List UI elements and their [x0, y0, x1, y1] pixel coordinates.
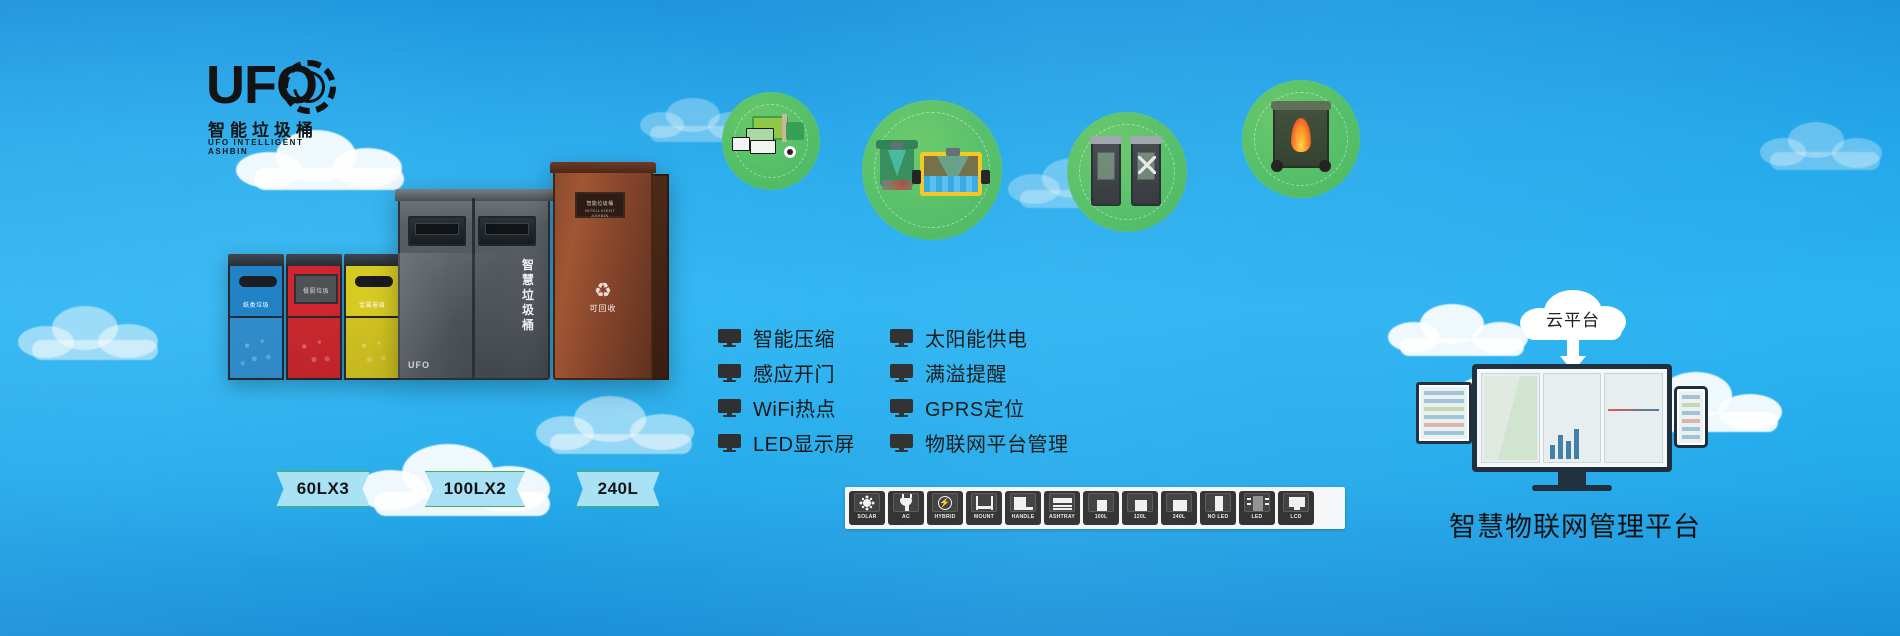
spec-item-lcd: LCD — [1278, 491, 1314, 525]
spec-item-120l: 120L — [1122, 491, 1158, 525]
feature-label: WiFi热点 — [753, 393, 836, 422]
bin-panel-right — [478, 216, 536, 246]
bin-divider — [288, 316, 340, 318]
bin-divider — [346, 316, 398, 318]
monitor-icon — [718, 364, 741, 382]
feature-item: 物联网平台管理 — [890, 425, 1069, 460]
capacity-label-60lx3: 60LX3 — [276, 471, 370, 507]
recycle-icon: ♻ — [553, 278, 653, 303]
spec-item-100l: 100L — [1083, 491, 1119, 525]
spec-item-mount: MOUNT — [966, 491, 1002, 525]
feature-item: 太阳能供电 — [890, 320, 1069, 355]
bin-lid — [228, 254, 284, 266]
no-led-icon — [1205, 493, 1231, 512]
monitor-frame — [1472, 364, 1672, 472]
tablet-screen — [1421, 387, 1467, 439]
spec-item-handle: HANDLE — [1005, 491, 1041, 525]
feature-item: LED显示屏 — [718, 425, 855, 460]
twin-bin-icon — [1091, 140, 1121, 206]
power-plug-icon — [893, 493, 919, 512]
spec-label: LCD — [1290, 514, 1301, 521]
bin-graphic — [350, 328, 394, 372]
bin-compartment-label: 餐厨垃圾 — [296, 286, 336, 295]
feature-circle-fill-level-sensing — [862, 100, 1002, 240]
feature-label: 物联网平台管理 — [925, 428, 1069, 457]
spec-label: HYBRID — [934, 514, 955, 521]
feature-circle-fire-detection — [1242, 80, 1360, 198]
bin-compartment-label: 纸类垃圾 — [230, 300, 282, 309]
product-two-compartment-bin: 智慧垃圾桶 UFO — [398, 198, 550, 380]
bin-lid — [550, 162, 656, 173]
platform-caption: 智慧物联网管理平台 — [1360, 505, 1790, 544]
spec-item-ac: AC — [888, 491, 924, 525]
spec-label: NO LED — [1208, 514, 1229, 521]
lightning-bolt-icon: ⚡ — [932, 493, 958, 512]
monitor-screen — [1477, 369, 1667, 467]
phone-device — [1674, 386, 1708, 448]
feature-label: GPRS定位 — [925, 393, 1025, 422]
spec-icon-strip: SOLAR AC ⚡ HYBRID MOUNT H — [845, 487, 1345, 529]
bin-sensor-icon — [880, 146, 914, 192]
led-icon — [1244, 493, 1270, 512]
monitor-icon — [890, 434, 913, 452]
feature-item: 智能压缩 — [718, 320, 855, 355]
devices-icon — [732, 128, 784, 158]
twin-bin-icon — [1131, 140, 1161, 206]
bin-brand-mark: UFO — [408, 360, 430, 370]
iot-platform-illustration: 云平台 — [1410, 290, 1740, 500]
feature-item: WiFi热点 — [718, 390, 855, 425]
hopper-sensor-icon — [920, 152, 982, 196]
feature-label: 太阳能供电 — [925, 323, 1028, 352]
tablet-device — [1416, 382, 1472, 444]
bin-lcd-screen: 智能垃圾桶 INTELLIGENT ASHBIN — [575, 192, 625, 218]
spec-item-solar: SOLAR — [849, 491, 885, 525]
bin-lid — [286, 254, 342, 266]
spec-label: SOLAR — [857, 514, 876, 521]
monitor-icon — [890, 364, 913, 382]
handle-icon — [1010, 493, 1036, 512]
product-three-compartment-bin: 纸类垃圾 餐厨垃圾 金属玻璃 — [228, 262, 404, 380]
monitor-icon — [890, 329, 913, 347]
brand-logo: UFO 智能垃圾桶 UFO INTELLIGENT ASHBIN — [196, 56, 346, 156]
bin-screen-line2: INTELLIGENT ASHBIN — [577, 208, 623, 218]
spec-label: LED — [1252, 514, 1263, 521]
monitor-icon — [718, 399, 741, 417]
spec-label: MOUNT — [974, 514, 994, 521]
monitor-icon — [718, 329, 741, 347]
feature-circle-smart-collection-fleet — [722, 92, 820, 190]
feature-label: 智能压缩 — [753, 323, 835, 352]
feature-item: 感应开门 — [718, 355, 855, 390]
dashboard-bar-panel — [1543, 373, 1602, 463]
capacity-label-240l: 240L — [576, 471, 660, 507]
spec-label: HANDLE — [1012, 514, 1035, 521]
capacity-label-100lx2: 100LX2 — [425, 471, 525, 507]
monitor-base — [1532, 485, 1612, 491]
bin-compartment-kitchen: 餐厨垃圾 — [286, 262, 342, 380]
bin-panel-left — [408, 216, 466, 246]
cloud-decoration — [1760, 120, 1890, 170]
cloud-platform-badge: 云平台 — [1520, 290, 1626, 346]
monitor-icon — [890, 399, 913, 417]
spec-item-240l: 240L — [1161, 491, 1197, 525]
bin-slot — [239, 276, 277, 287]
spec-item-led: LED — [1239, 491, 1275, 525]
bin-screen-line1: 智能垃圾桶 — [577, 200, 623, 207]
marketing-banner: UFO 智能垃圾桶 UFO INTELLIGENT ASHBIN 纸类垃圾 餐厨… — [0, 0, 1900, 636]
feature-circle-dual-bin-monitoring — [1067, 112, 1187, 232]
feature-list-left: 智能压缩 感应开门 WiFi热点 LED显示屏 — [718, 320, 855, 460]
bin-120l-icon — [1127, 493, 1153, 512]
feature-item: 满溢提醒 — [890, 355, 1069, 390]
dashboard-chart-panel — [1604, 373, 1663, 463]
spec-label: 100L — [1095, 514, 1108, 521]
fire-bin-icon — [1273, 106, 1329, 168]
feature-list-right: 太阳能供电 满溢提醒 GPRS定位 物联网平台管理 — [890, 320, 1069, 460]
logo-english-name: UFO INTELLIGENT ASHBIN — [208, 138, 346, 156]
cloud-decoration — [18, 300, 168, 360]
bin-compartment-metal-glass: 金属玻璃 — [344, 262, 400, 380]
phone-screen — [1679, 391, 1703, 443]
feature-label: 感应开门 — [753, 358, 835, 387]
desktop-monitor — [1472, 364, 1672, 472]
monitor-icon — [718, 434, 741, 452]
spec-item-hybrid: ⚡ HYBRID — [927, 491, 963, 525]
cloud-platform-label: 云平台 — [1520, 306, 1626, 331]
spec-label: 240L — [1173, 514, 1186, 521]
feature-item: GPRS定位 — [890, 390, 1069, 425]
bin-graphic — [292, 328, 336, 372]
bin-side-text: 智慧垃圾桶 — [522, 258, 538, 333]
bin-240l-icon — [1166, 493, 1192, 512]
product-single-bin: 智能垃圾桶 INTELLIGENT ASHBIN ♻ 可回收 — [553, 170, 653, 380]
bin-compartment-paper: 纸类垃圾 — [228, 262, 284, 380]
sun-icon — [854, 493, 880, 512]
bin-plate: 餐厨垃圾 — [294, 274, 338, 304]
feature-label: 满溢提醒 — [925, 358, 1007, 387]
ashtray-icon — [1049, 493, 1075, 512]
monitor-stand — [1558, 472, 1586, 486]
spec-item-no-led: NO LED — [1200, 491, 1236, 525]
bin-side-panel — [651, 174, 669, 380]
lcd-icon — [1283, 493, 1309, 512]
wall-mount-icon — [971, 493, 997, 512]
dashboard-map-panel — [1481, 373, 1540, 463]
bin-display — [415, 223, 459, 235]
bin-divider — [230, 316, 282, 318]
spec-item-ashtray: ASHTRAY — [1044, 491, 1080, 525]
bin-100l-icon — [1088, 493, 1114, 512]
spec-label: 120L — [1134, 514, 1147, 521]
bin-lid — [344, 254, 400, 266]
recycle-label: 可回收 — [553, 303, 653, 314]
spec-label: ASHTRAY — [1049, 514, 1075, 521]
cloud-decoration — [536, 392, 706, 454]
bin-compartment-label: 金属玻璃 — [346, 300, 398, 309]
bin-display — [485, 223, 529, 235]
feature-label: LED显示屏 — [753, 428, 855, 457]
bin-graphic — [234, 328, 278, 372]
spec-label: AC — [902, 514, 910, 521]
bin-slot — [355, 276, 393, 287]
